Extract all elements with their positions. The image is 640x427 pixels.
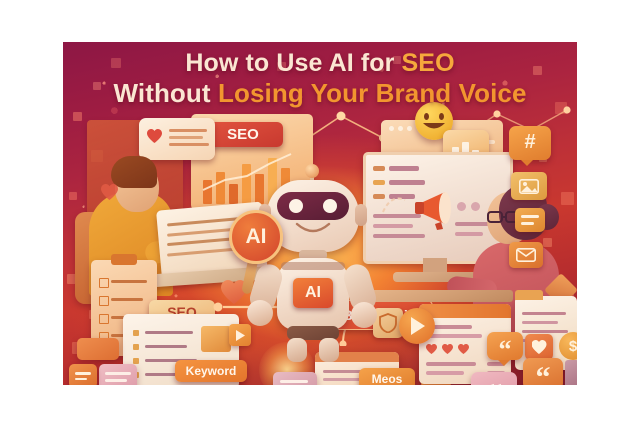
ai-robot-mascot: AI [251, 170, 375, 360]
article-line [426, 334, 482, 338]
bubble-text-line [169, 129, 207, 132]
folder-line [522, 321, 558, 324]
folder-line [522, 312, 566, 315]
heart-icon [532, 340, 547, 354]
shield-icon [379, 313, 397, 333]
browser-dot [389, 126, 394, 131]
title-line-1-part-1: How to Use AI for [185, 49, 401, 77]
checkbox [99, 314, 109, 324]
checkbox [99, 296, 109, 306]
smiley-eye [439, 113, 444, 120]
ai-magnifier-badge: AI [229, 210, 283, 264]
doc-line [145, 345, 187, 348]
browser-dot [398, 126, 403, 131]
heart-icon [147, 129, 162, 143]
folder-tab [515, 290, 543, 300]
image-canvas: SEO SEO [0, 0, 640, 427]
confetti-square [69, 192, 77, 200]
doc-bullet [133, 344, 139, 350]
robot-antenna-tip [305, 164, 319, 178]
play-icon [410, 317, 426, 335]
message-card [273, 372, 317, 385]
monitor-line [373, 234, 425, 238]
hashtag-icon: # [509, 131, 551, 154]
confetti-square [73, 112, 82, 121]
monitor-line [389, 166, 419, 171]
robot-hand-left [247, 300, 273, 326]
hero-title: How to Use AI for SEO Without Losing You… [63, 50, 577, 107]
media-badge: Meos [359, 368, 415, 385]
confetti-square [543, 238, 552, 247]
monitor-line [373, 224, 413, 228]
note-line [105, 372, 131, 375]
slider-bars-icon [565, 360, 577, 385]
checklist-line [111, 280, 147, 283]
doc-image-thumb [201, 326, 231, 352]
play-icon [235, 330, 246, 341]
sound-wave-icon [381, 192, 415, 214]
doc-bullet [133, 358, 139, 364]
bubble-text-line [169, 136, 203, 139]
robot-chest-ai-badge: AI [293, 278, 333, 308]
quote-icon: “ [471, 382, 517, 385]
note-card-left [77, 338, 119, 360]
seo-screen-badge: SEO [203, 122, 283, 147]
clipboard-clip [111, 254, 137, 265]
tag-line [521, 215, 539, 218]
title-line-2-part-1: Without [113, 78, 218, 108]
mail-icon [516, 248, 536, 262]
heart-speech-bubble [139, 118, 215, 160]
hero-illustration: SEO SEO [63, 42, 577, 385]
article-line [426, 362, 476, 366]
keyword-badge: Keyword [175, 360, 247, 382]
smiley-eye [424, 113, 429, 120]
tag-icon-card [515, 208, 545, 232]
note-card-pink [99, 364, 137, 385]
mail-icon-card [509, 242, 543, 268]
list-line [75, 372, 91, 375]
browser-dot [407, 126, 412, 131]
robot-hand-right [351, 302, 377, 328]
title-line-2-part-2: Losing Your Brand Voice [218, 78, 527, 108]
robot-eye-right [323, 199, 337, 213]
quote-bubble-medium: “ [523, 358, 563, 385]
message-line [280, 380, 308, 383]
list-line [75, 378, 87, 381]
bubble-text-line [169, 143, 209, 146]
confetti-square [561, 192, 574, 205]
article-card-header [419, 304, 511, 318]
monitor-line [373, 214, 421, 218]
smiley-mouth [422, 122, 446, 134]
title-line-1-part-2: SEO [402, 49, 455, 77]
robot-visor [277, 192, 349, 220]
title-line-2: Without Losing Your Brand Voice [63, 79, 577, 107]
image-icon [519, 179, 539, 194]
note-line [105, 379, 127, 382]
doc-bullet [133, 330, 139, 336]
desk-surface-right [363, 290, 513, 302]
megaphone-icon [415, 186, 471, 230]
title-line-1: How to Use AI for SEO [63, 50, 577, 77]
quote-icon: “ [523, 367, 563, 385]
monitor-line [389, 180, 425, 185]
robot-leg-right [319, 338, 339, 362]
doc-line [145, 331, 193, 334]
list-icon-card [69, 364, 97, 385]
person-left-hair [111, 156, 157, 188]
ai-magnifier-label: AI [246, 225, 267, 249]
media-line [323, 378, 361, 381]
hashtag-bubble: # [509, 126, 551, 160]
robot-leg-left [287, 338, 307, 362]
robot-chest-stripe [281, 262, 345, 270]
heart-card [525, 334, 553, 360]
tag-line [521, 222, 534, 225]
quote-icon: “ [487, 340, 523, 360]
quote-bubble-small: “ [487, 332, 523, 360]
robot-chest-ai-label: AI [305, 284, 321, 302]
folder-line [522, 330, 568, 333]
checkbox [99, 278, 109, 288]
checklist-line [111, 298, 143, 301]
robot-ear-right [355, 204, 367, 226]
monitor-dot [471, 202, 480, 211]
quote-bubble-pink: “ [471, 372, 517, 385]
robot-smile [295, 222, 331, 238]
robot-eye-left [289, 199, 303, 213]
article-line [426, 371, 464, 375]
monitor-line [455, 232, 483, 236]
image-icon-card [511, 172, 547, 200]
